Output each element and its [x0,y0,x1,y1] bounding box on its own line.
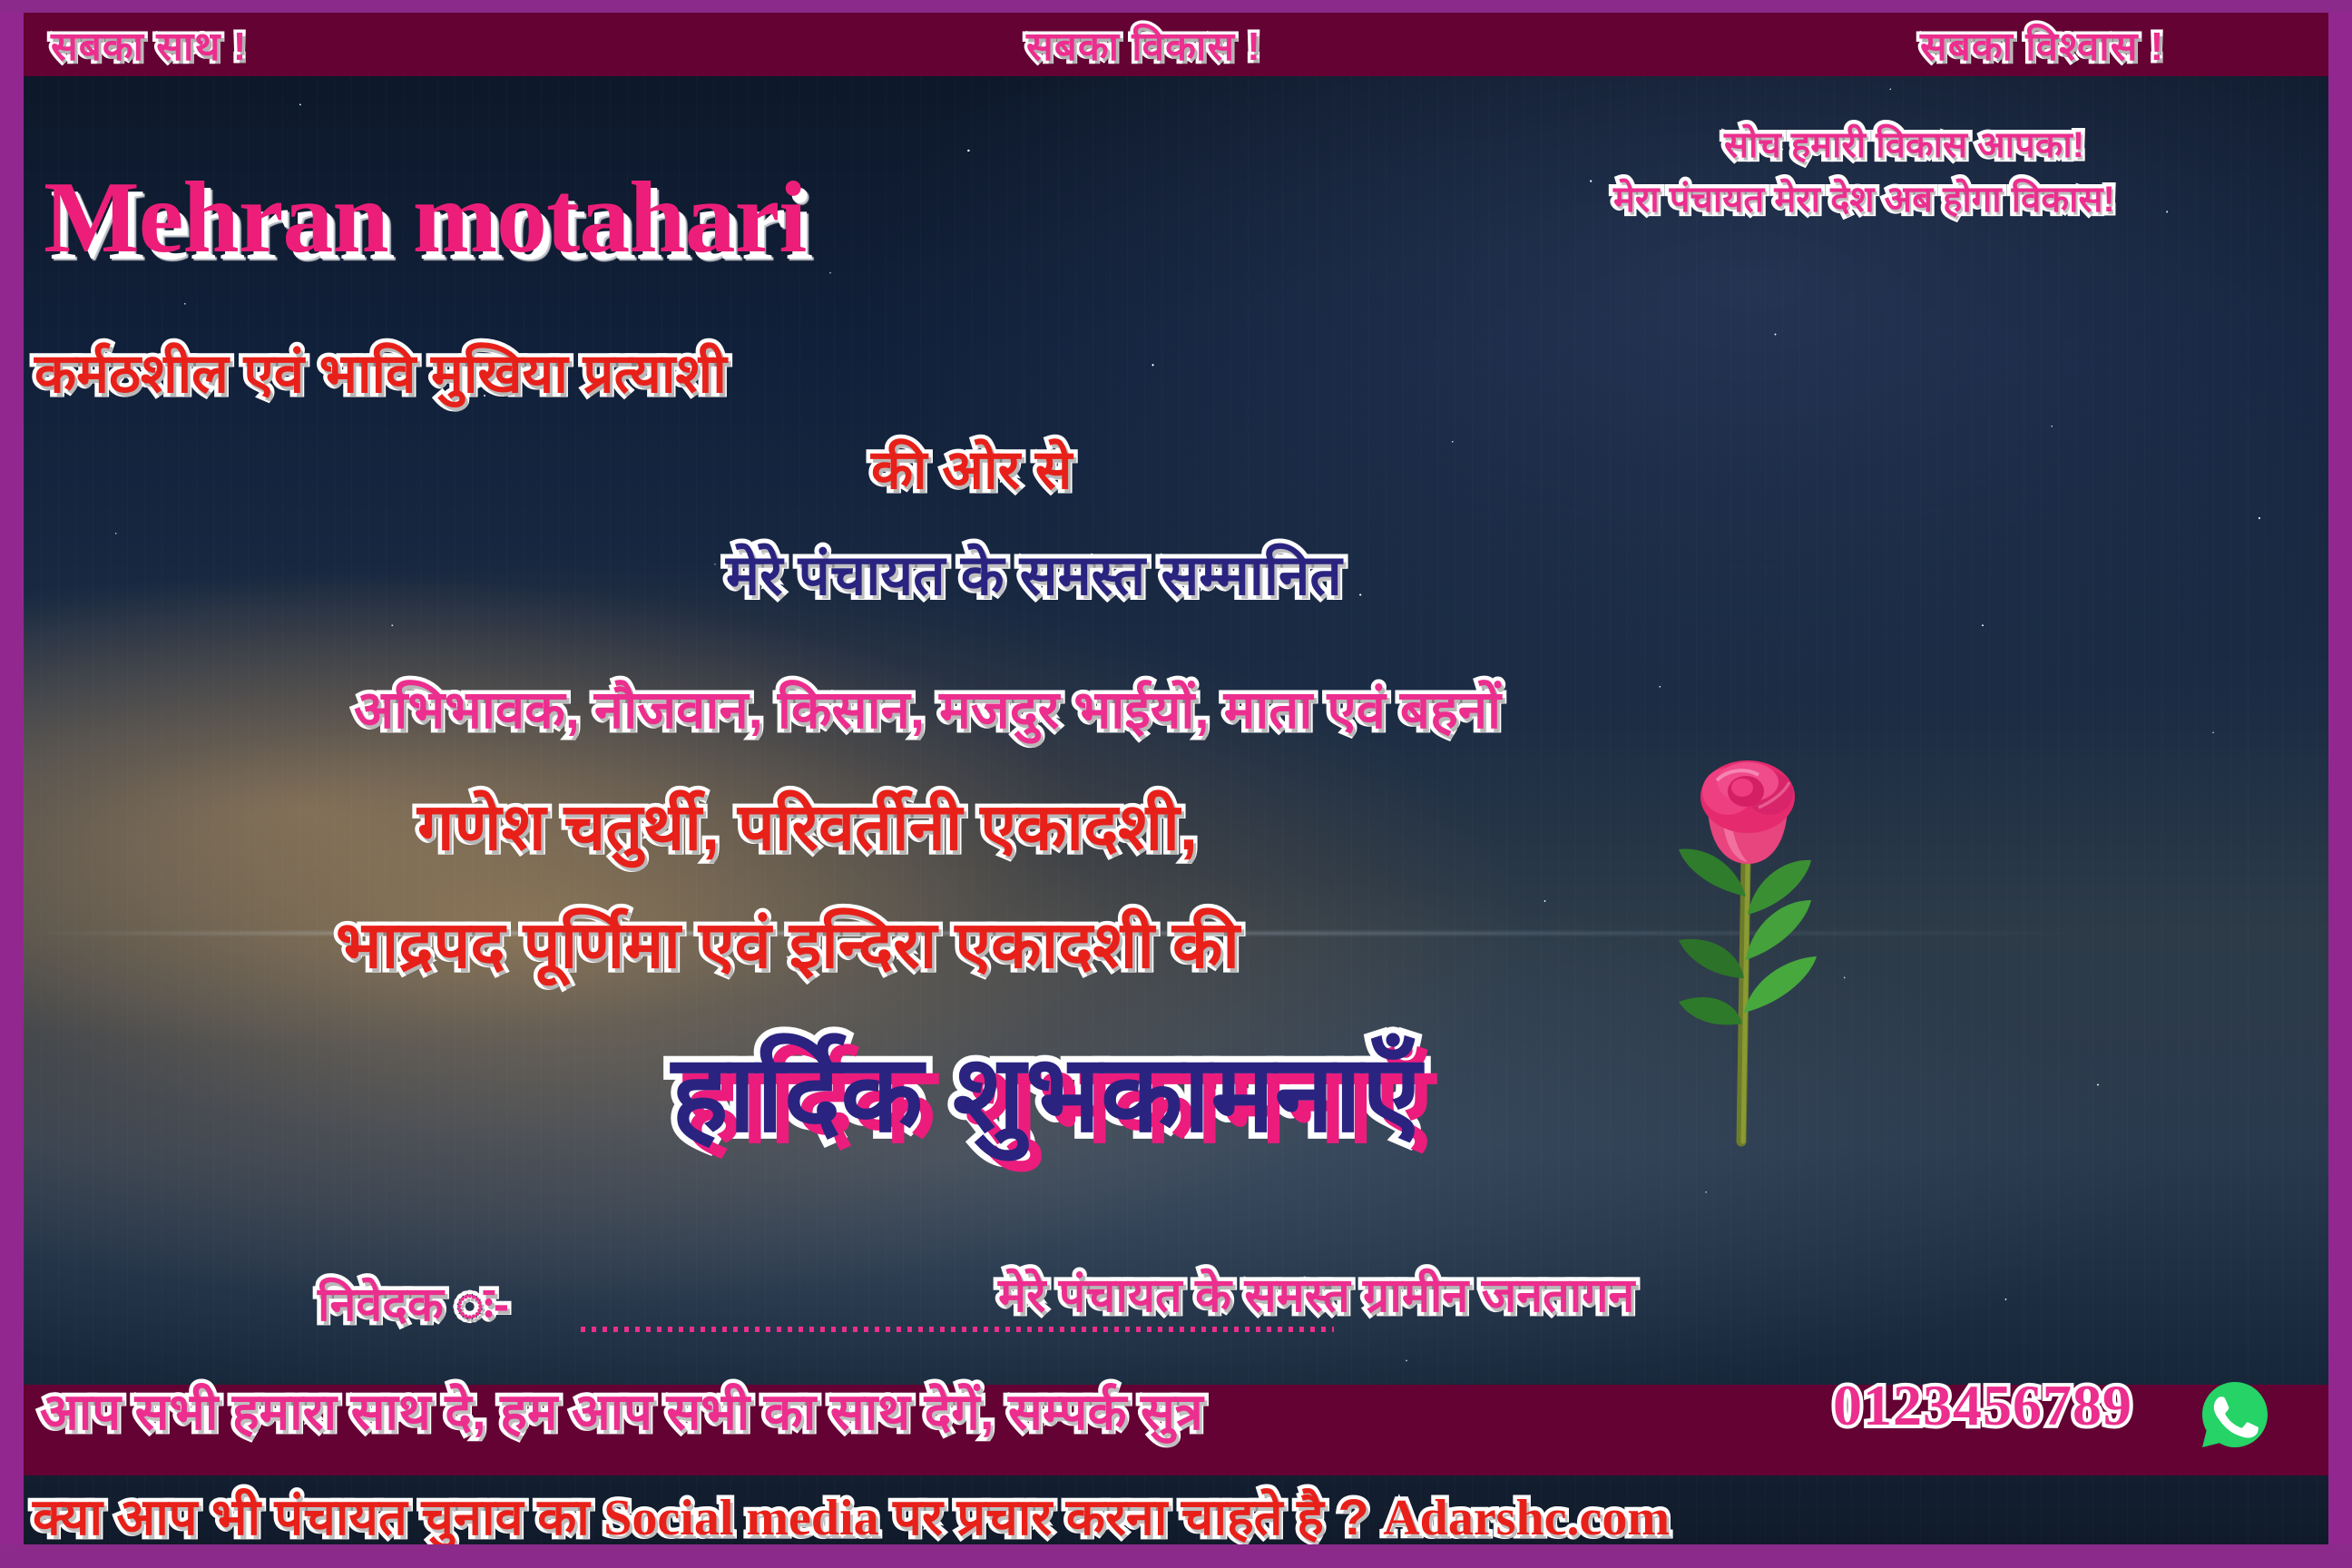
festival-line-1: गणेश चतुर्थी, परिवर्तीनी एकादशी, [417,780,1198,869]
election-greeting-poster: सबका साथ ! सबका विकास ! सबका विश्वास ! M… [0,0,2352,1568]
tagline-line-1: सोच हमारी विकास आपका! [1724,118,2084,168]
addressee-line-1: मेरे पंचायत के समस्त सम्मानित [726,535,1342,612]
top-slogan-band: सबका साथ ! सबका विकास ! सबका विश्वास ! [24,13,2328,76]
signature-dotted-line [581,1327,1334,1332]
candidate-name: Mehran motahari [44,160,806,277]
frame-top-border [0,0,2352,13]
promo-social-media: Social media [603,1490,878,1546]
promo-prefix: क्या आप भी पंचायत चुनाव का [33,1488,603,1545]
slogan-sabka-vishwas: सबका विश्वास ! [1920,17,2164,72]
slogan-sabka-vikas: सबका विकास ! [1026,17,1261,72]
promo-website[interactable]: Adarshc.com [1383,1490,1670,1546]
rose-icon [1651,751,1851,1178]
footer-promo: क्या आप भी पंचायत चुनाव का Social media … [33,1481,1670,1550]
greeting-text: हार्दिक शुभकामनाएँ [671,1016,1421,1162]
promo-middle: पर प्रचार करना चाहते है ? [879,1488,1384,1545]
contact-phone[interactable]: 0123456789 [1833,1372,2132,1439]
frame-right-border [2328,0,2352,1568]
frame-bottom-border [0,1544,2352,1568]
nivedak-value: मेरे पंचायत के समस्त ग्रामीन जनतागन [998,1261,1634,1326]
slogan-sabka-saath: सबका साथ ! [51,17,247,72]
whatsapp-icon[interactable] [2200,1379,2270,1450]
tagline-line-2: मेरा पंचायत मेरा देश अब होगा विकास! [1613,172,2115,222]
nivedak-label: निवेदक ः- [318,1270,509,1335]
role-line: कर्मठशील एवं भावि मुखिया प्रत्याशी [34,334,727,408]
from-line: की ओर से [871,430,1072,505]
festival-line-2: भाद्रपद पूर्णिमा एवं इन्दिरा एकादशी की [336,898,1240,987]
footer-appeal: आप सभी हमारा साथ दे, हम आप सभी का साथ दे… [40,1376,1203,1445]
frame-left-border [0,0,24,1568]
addressee-line-2: अभिभावक, नौजवान, किसान, मजदुर भाईयों, मा… [354,671,1501,743]
